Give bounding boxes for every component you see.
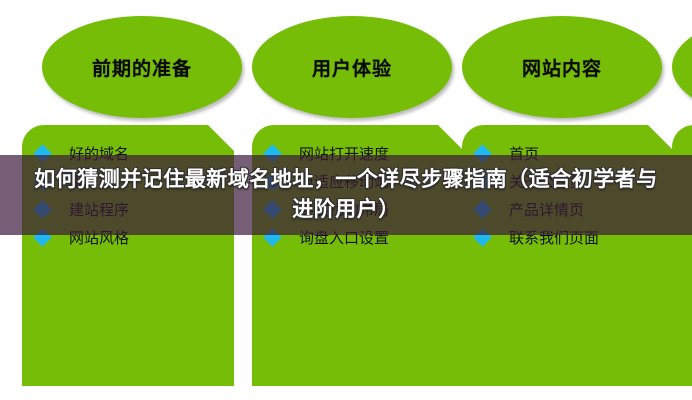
overlay-title-band: 如何猜测并记住最新域名地址，一个详尽步骤指南（适合初学者与进阶用户）: [0, 155, 692, 235]
screenshot-stage: 前期的准备 用户体验 网站内容 好的域名 服务器 建站程序: [0, 0, 692, 400]
heading-ellipse-1: 前期的准备: [42, 16, 242, 118]
heading-ellipse-2-label: 用户体验: [312, 54, 392, 81]
heading-ellipse-3: 网站内容: [462, 16, 662, 118]
heading-ellipse-4-partial: [672, 16, 692, 118]
heading-ellipse-1-label: 前期的准备: [92, 54, 192, 81]
heading-ellipse-2: 用户体验: [252, 16, 452, 118]
heading-ellipse-3-label: 网站内容: [522, 54, 602, 81]
overlay-title-text: 如何猜测并记住最新域名地址，一个详尽步骤指南（适合初学者与进阶用户）: [26, 165, 666, 225]
